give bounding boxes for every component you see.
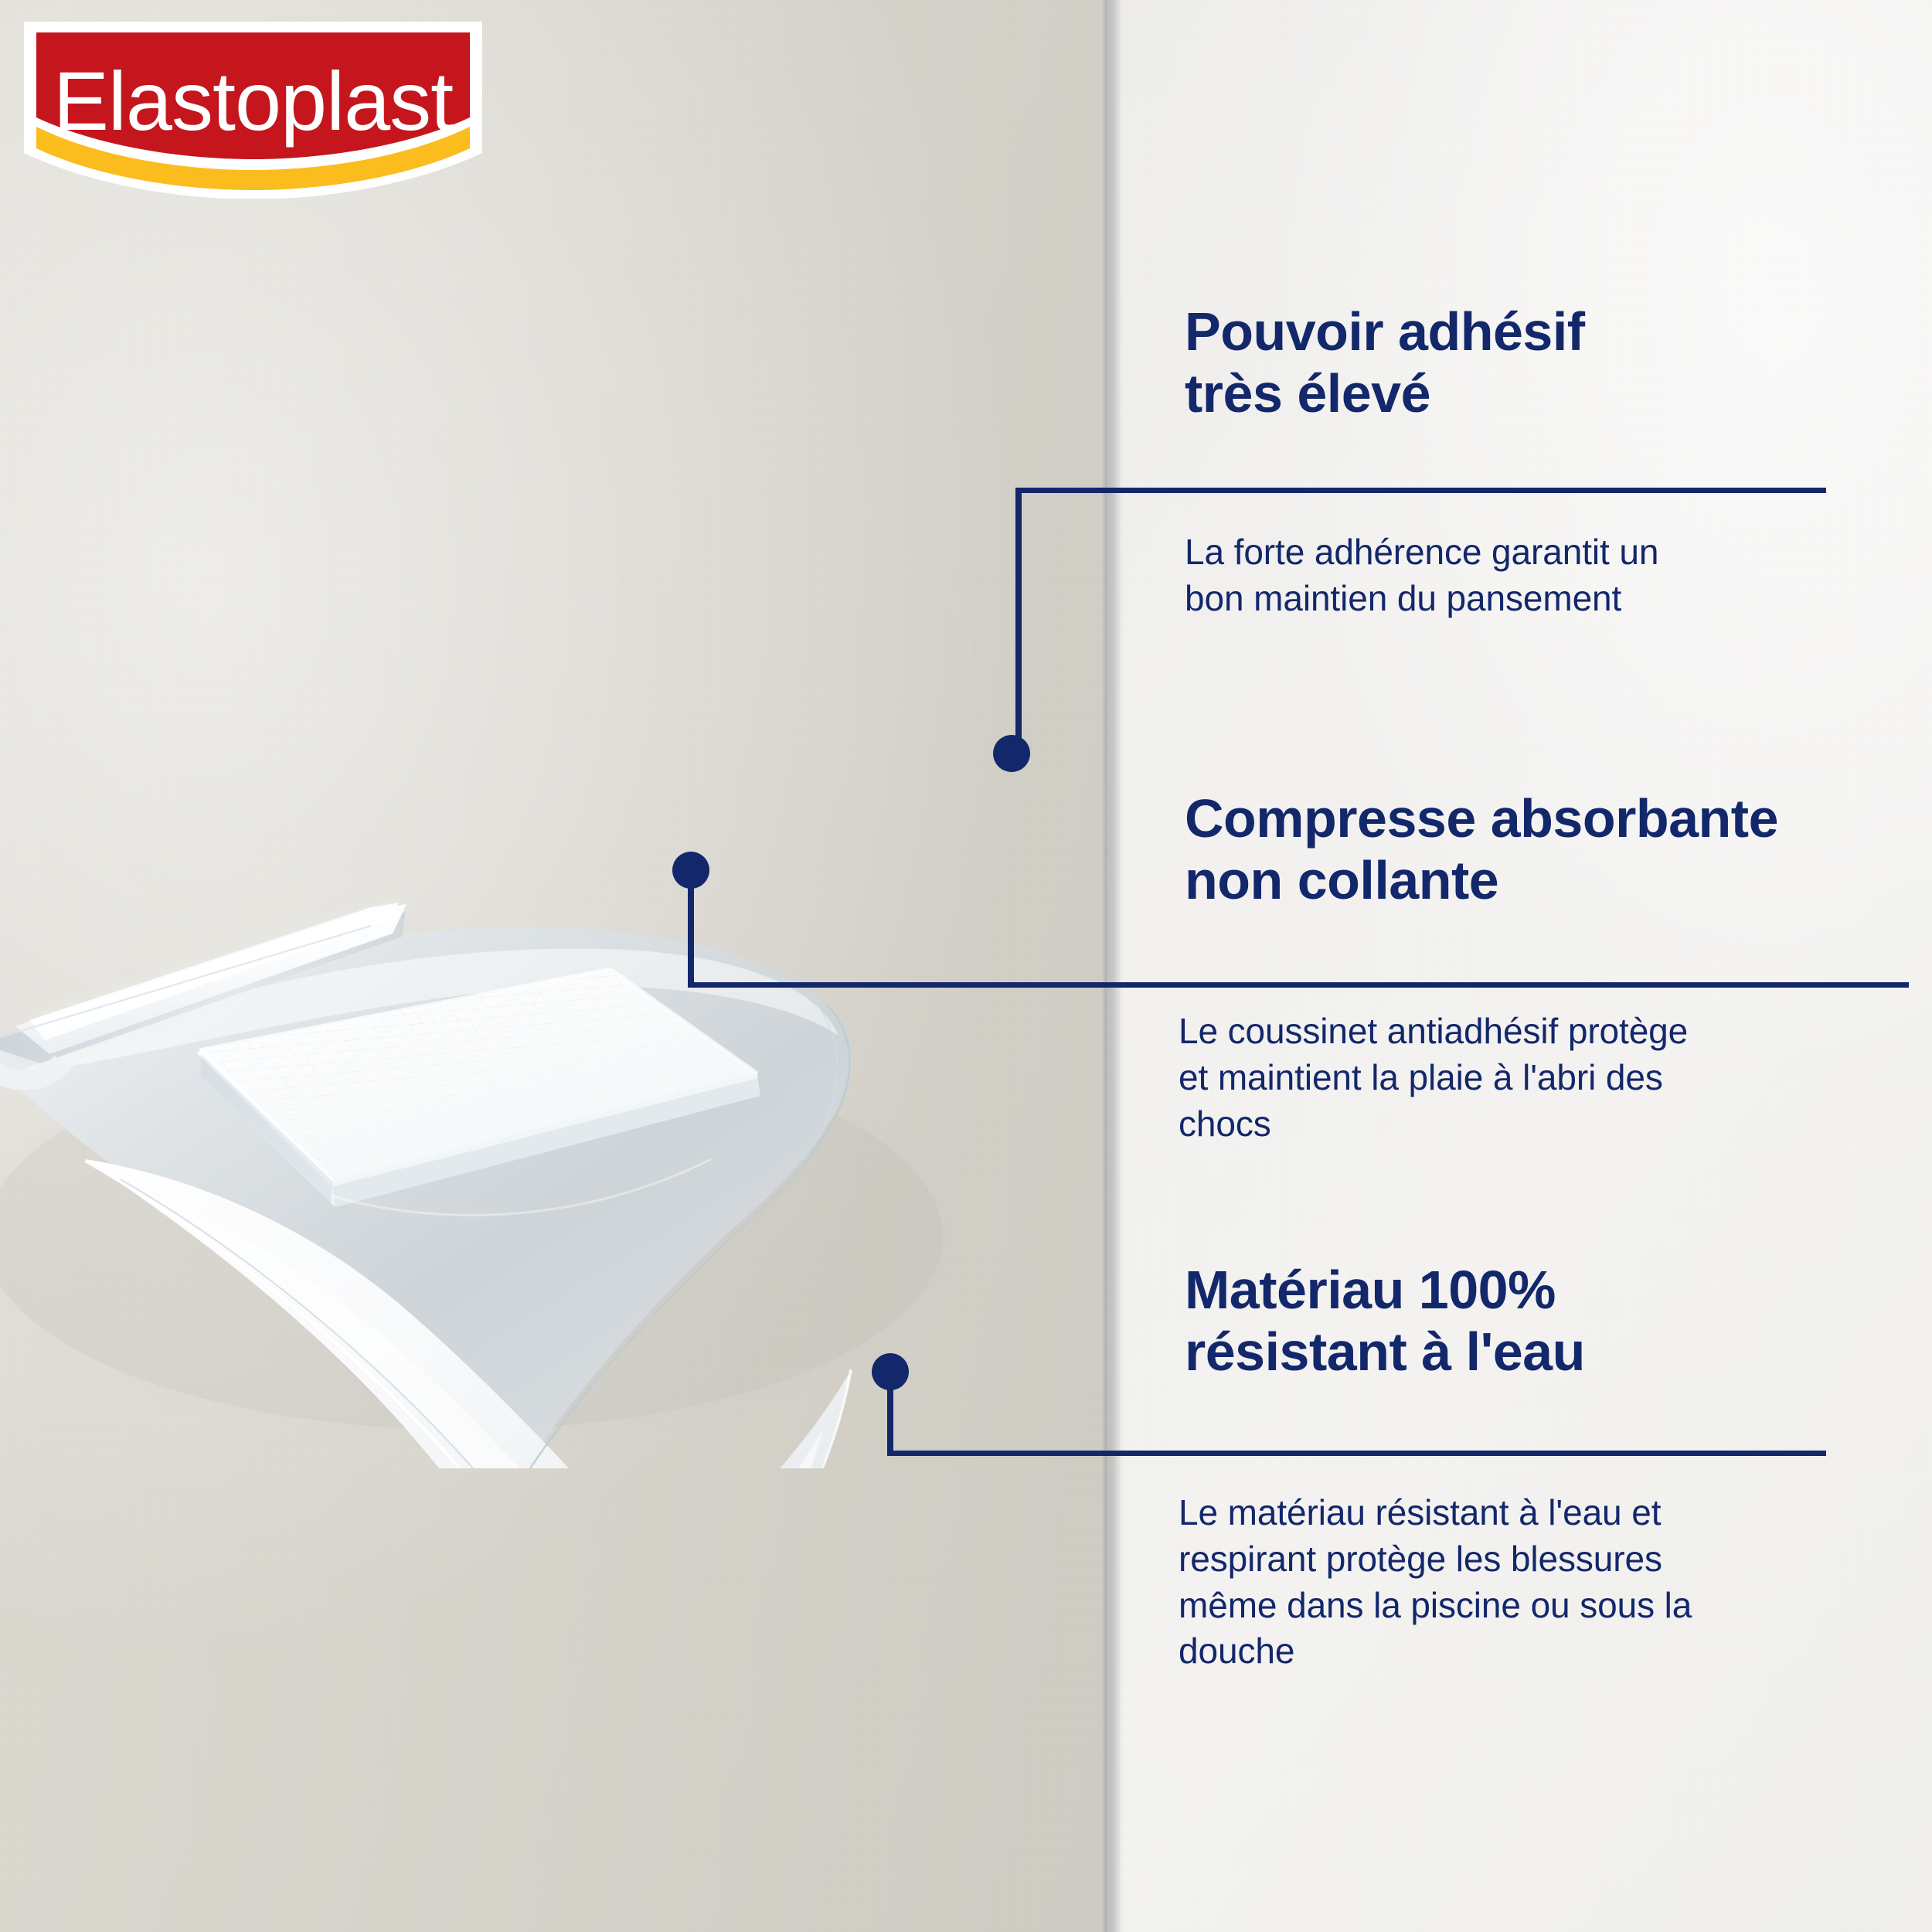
callout-rule-waterproof [887, 1451, 1826, 1456]
product-illustration [0, 541, 1128, 1468]
callout-rule-adhesion [1015, 488, 1826, 493]
elastoplast-logo: Elastoplast [19, 17, 487, 199]
callout-waterproof-body-wrap: Le matériau résistant à l'eau et respira… [1179, 1490, 1820, 1675]
infographic-canvas: Elastoplast Pouvoir adhésif très élevé L… [0, 0, 1932, 1932]
callout-adhesion-title: Pouvoir adhésif très élevé [1185, 301, 1880, 425]
callout-adhesion-body-wrap: La forte adhérence garantit un bon maint… [1185, 529, 1803, 622]
callout-adhesion: Pouvoir adhésif très élevé [1185, 301, 1880, 425]
callout-absorbent-pad-body-wrap: Le coussinet antiadhésif protège et main… [1179, 1009, 1812, 1147]
callout-waterproof-body: Le matériau résistant à l'eau et respira… [1179, 1490, 1820, 1675]
callout-absorbent-pad-body: Le coussinet antiadhésif protège et main… [1179, 1009, 1812, 1147]
callout-waterproof: Matériau 100% résistant à l'eau [1185, 1260, 1880, 1383]
callout-adhesion-body: La forte adhérence garantit un bon maint… [1185, 529, 1803, 622]
callout-absorbent-pad: Compresse absorbante non collante [1185, 788, 1932, 912]
callout-waterproof-title: Matériau 100% résistant à l'eau [1185, 1260, 1880, 1383]
callout-rule-absorbent-pad [688, 982, 1909, 988]
callout-absorbent-pad-title: Compresse absorbante non collante [1185, 788, 1932, 912]
